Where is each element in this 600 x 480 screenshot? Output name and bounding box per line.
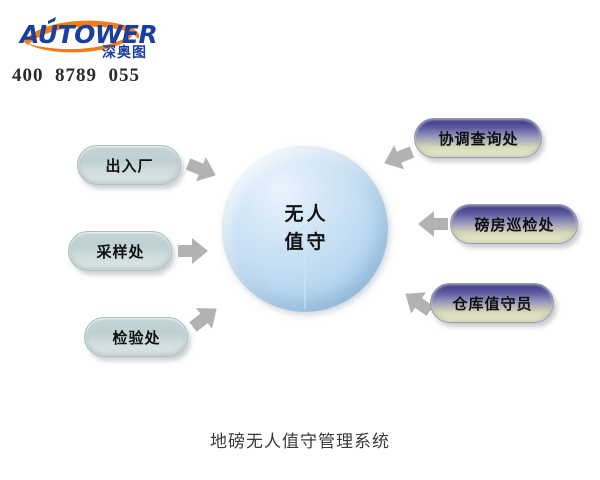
arrow-right-down-icon: [183, 152, 221, 187]
arrow-right-icon: [178, 238, 208, 264]
node-cangkuzhishouyuan-label: 仓库值守员: [451, 293, 532, 314]
node-cangkuzhishouyuan[interactable]: 仓库值守员: [430, 283, 554, 323]
node-xietiaochaxunchu[interactable]: 协调查询处: [414, 118, 542, 158]
center-node-label-line2: 值守: [281, 229, 328, 257]
arrow-left-down-icon: [379, 140, 417, 175]
node-bangfangxunjianchu-label: 磅房巡检处: [473, 214, 554, 235]
center-node-unattended[interactable]: 无人 值守: [222, 146, 388, 312]
node-jianyanchu[interactable]: 检验处: [84, 317, 188, 357]
arrow-left-icon: [418, 211, 448, 237]
node-jianyanchu-label: 检验处: [111, 327, 160, 348]
node-bangfangxunjianchu[interactable]: 磅房巡检处: [450, 204, 578, 244]
arrow-right-up-icon: [185, 298, 225, 337]
node-churuchang[interactable]: 出入厂: [77, 145, 181, 185]
node-caiyangchu-label: 采样处: [95, 241, 144, 262]
node-churuchang-label: 出入厂: [104, 155, 153, 176]
center-node-label: 无人 值守: [281, 201, 328, 256]
center-node-label-line1: 无人: [281, 201, 328, 229]
node-caiyangchu[interactable]: 采样处: [68, 231, 172, 271]
workflow-diagram: 无人 值守 出入厂 采样处 检验处 协调查询处 磅房巡检处 仓库值守员: [0, 0, 600, 480]
diagram-caption: 地磅无人值守管理系统: [0, 427, 600, 452]
node-xietiaochaxunchu-label: 协调查询处: [437, 128, 518, 149]
